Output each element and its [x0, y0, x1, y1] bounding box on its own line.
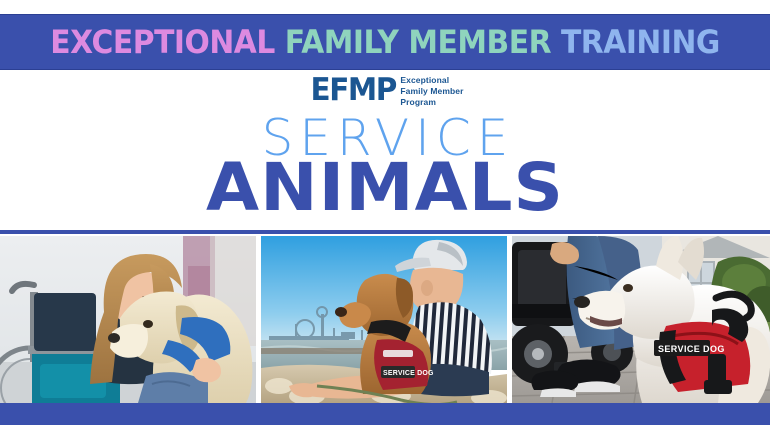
banner-word-family-member: FAMILY MEMBER: [285, 23, 551, 61]
efmp-logo-line-3: Program: [400, 97, 463, 108]
photo-boy-beach-service-dog: Boy in a striped shirt and grey cap sitt…: [261, 236, 507, 403]
svg-text:SERVICE DOG: SERVICE DOG: [383, 370, 434, 377]
title-line-animals: ANIMALS: [0, 155, 770, 221]
photo-strip-divider: [0, 230, 770, 234]
banner-word-exceptional: EXCEPTIONAL: [50, 23, 275, 61]
header-banner: EXCEPTIONAL FAMILY MEMBER TRAINING: [0, 14, 770, 70]
efmp-service-animals-poster: EXCEPTIONAL FAMILY MEMBER TRAINING EFMP …: [0, 0, 770, 435]
efmp-logo-line-2: Family Member: [400, 86, 463, 97]
efmp-logo: EFMP Exceptional Family Member Program: [0, 74, 770, 108]
photo-white-shepherd-power-chair: White German Shepherd in a red SERVICE D…: [512, 236, 770, 403]
efmp-logo-mark: EFMP: [311, 75, 396, 106]
footer-bar: [0, 403, 770, 425]
svg-text:SERVICE DOG: SERVICE DOG: [658, 344, 725, 354]
photo-wheelchair-golden-retriever: Young woman in a wheelchair hugging a cr…: [0, 236, 256, 403]
banner-word-training: TRAINING: [561, 23, 720, 61]
efmp-logo-line-1: Exceptional: [400, 75, 463, 86]
header-banner-text: EXCEPTIONAL FAMILY MEMBER TRAINING: [50, 26, 720, 58]
efmp-logo-wordmark: Exceptional Family Member Program: [400, 74, 463, 108]
photo-strip: Young woman in a wheelchair hugging a cr…: [0, 236, 770, 403]
